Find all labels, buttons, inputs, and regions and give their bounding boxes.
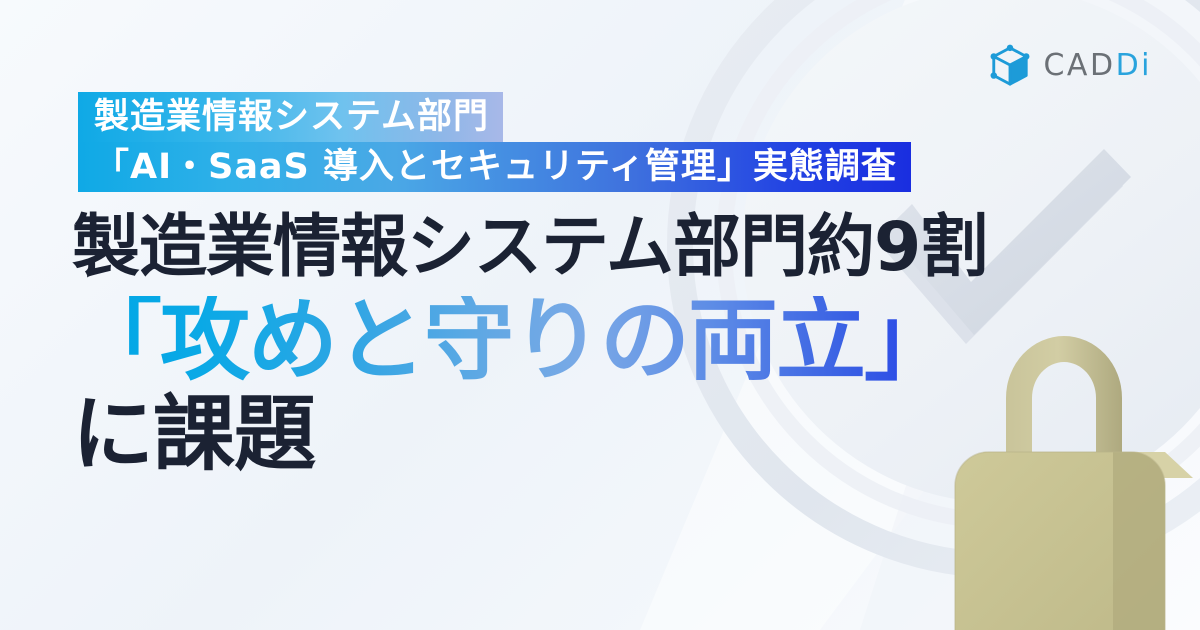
badge-line-1: 製造業情報システム部門	[78, 92, 503, 142]
headline-line-3: に課題	[72, 394, 987, 476]
badge-line-2: 「AI・SaaS 導入とセキュリティ管理」実態調査	[78, 142, 911, 192]
poster-canvas: CADDi 製造業情報システム部門 「AI・SaaS 導入とセキュリティ管理」実…	[0, 0, 1200, 630]
headline-block: 製造業情報システム部門約9割 「攻めと守りの両立」 に課題	[72, 214, 987, 476]
logo-text-cad: CAD	[1043, 51, 1115, 81]
caddi-logo[interactable]: CADDi	[989, 44, 1152, 88]
caddi-wordmark: CADDi	[1043, 51, 1152, 81]
headline-line-1: 製造業情報システム部門約9割	[72, 214, 987, 282]
headline-line-2: 「攻めと守りの両立」	[72, 296, 987, 386]
caddi-cube-icon	[989, 44, 1031, 88]
logo-text-di: Di	[1116, 51, 1152, 81]
survey-badge: 製造業情報システム部門 「AI・SaaS 導入とセキュリティ管理」実態調査	[78, 92, 911, 192]
